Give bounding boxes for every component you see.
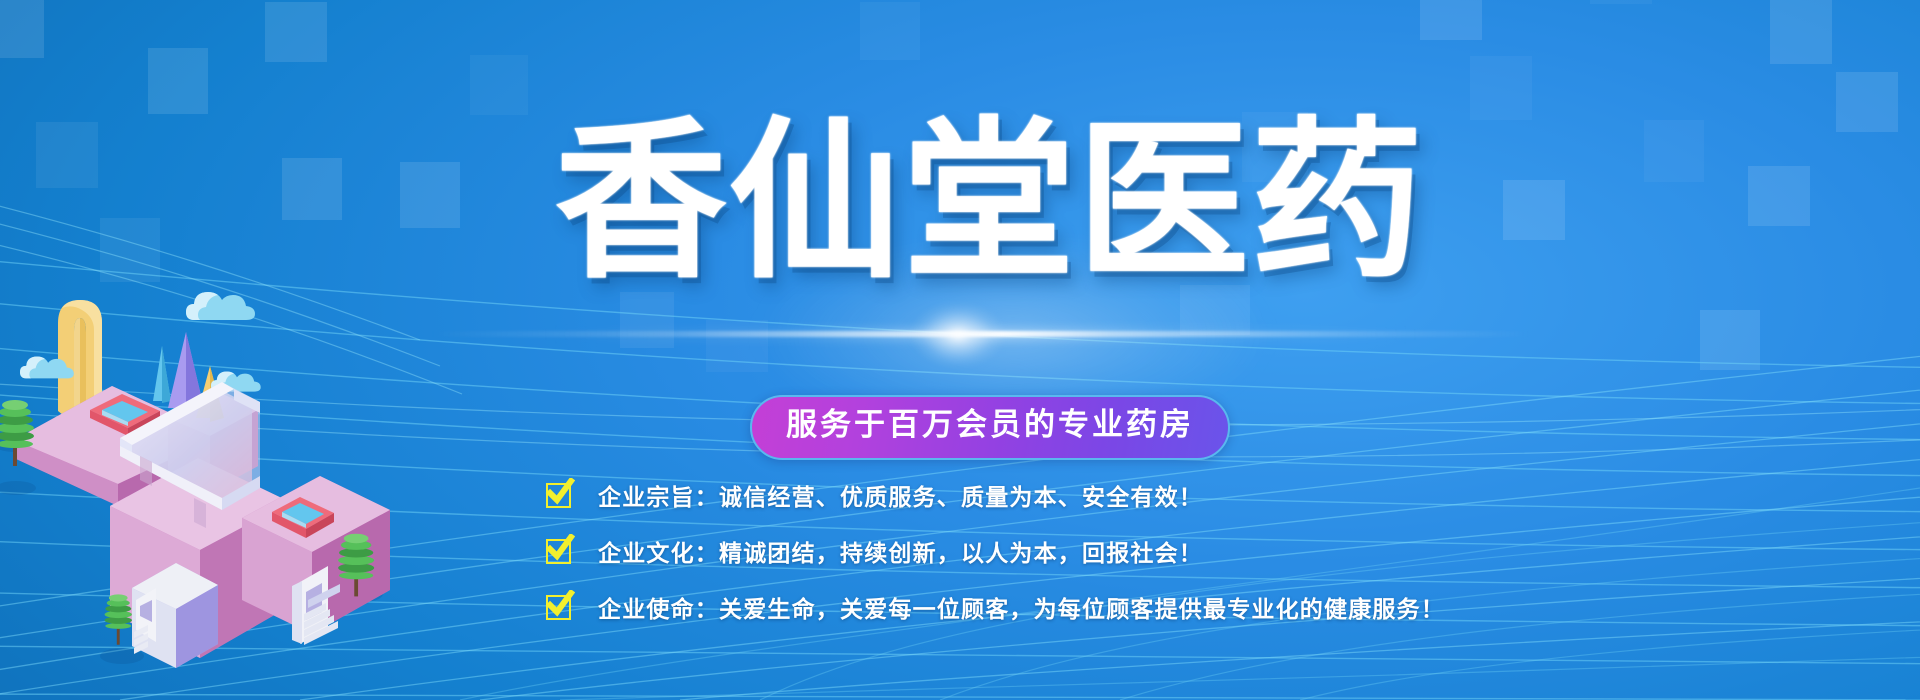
bg-square — [0, 0, 44, 58]
cloud-icon — [20, 292, 261, 392]
bg-square — [265, 2, 327, 62]
bg-square — [1590, 0, 1652, 4]
bg-square — [470, 55, 528, 115]
list-item: 企业使命：关爱生命，关爱每一位顾客，为每位顾客提供最专业化的健康服务！ — [546, 590, 1445, 624]
bg-square — [706, 320, 768, 372]
checkbox-checked-icon — [546, 595, 571, 620]
bg-square — [1470, 56, 1532, 120]
bg-square — [860, 2, 920, 60]
bg-square — [1420, 0, 1482, 40]
list-item-label: 企业宗旨：诚信经营、优质服务、质量为本、安全有效！ — [598, 478, 1203, 512]
tagline-badge-container: 服务于百万会员的专业药房 — [0, 395, 1920, 460]
list-item-label: 企业文化：精诚团结，持续创新，以人为本，回报社会！ — [598, 534, 1203, 568]
bg-square — [148, 48, 208, 114]
bg-square — [1700, 310, 1760, 370]
checkbox-checked-icon — [546, 539, 571, 564]
checkbox-checked-icon — [546, 483, 571, 508]
list-item-label: 企业使命：关爱生命，关爱每一位顾客，为每位顾客提供最专业化的健康服务！ — [598, 590, 1445, 624]
bg-square — [1770, 0, 1832, 64]
tagline-badge: 服务于百万会员的专业药房 — [750, 395, 1230, 460]
page-title: 香仙堂医药 — [0, 112, 1920, 293]
bullet-list: 企业宗旨：诚信经营、优质服务、质量为本、安全有效！ 企业文化：精诚团结，持续创新… — [546, 478, 1445, 624]
promo-banner: 香仙堂医药 服务于百万会员的专业药房 企业宗旨：诚信经营、优质服务、质量为本、安… — [0, 0, 1920, 700]
isometric-city-illustration — [0, 270, 430, 700]
light-flare — [430, 300, 1530, 370]
list-item: 企业宗旨：诚信经营、优质服务、质量为本、安全有效！ — [546, 478, 1445, 512]
list-item: 企业文化：精诚团结，持续创新，以人为本，回报社会！ — [546, 534, 1445, 568]
